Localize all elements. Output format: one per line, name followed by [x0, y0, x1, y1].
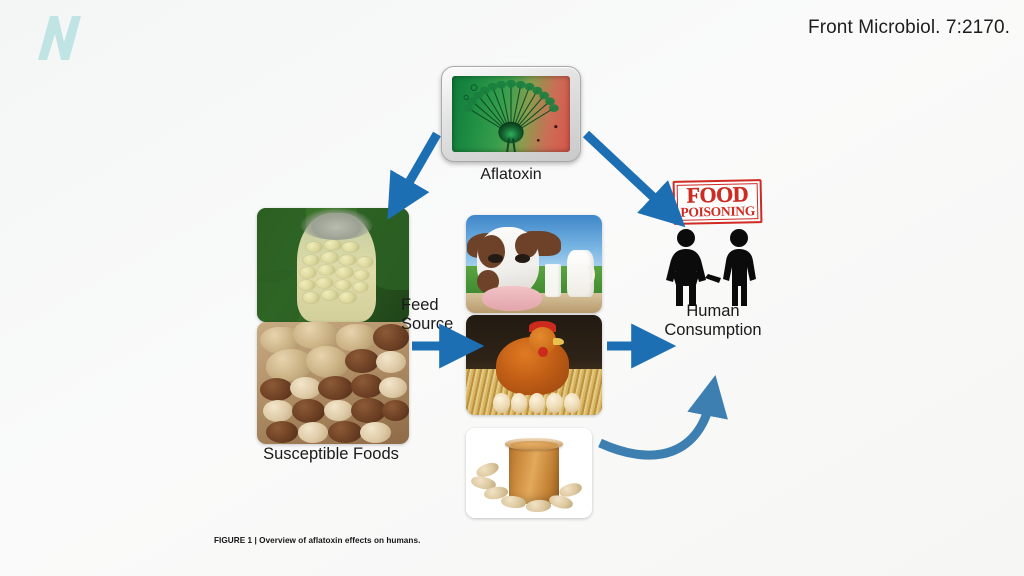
- feed-source-label: Feed Source: [401, 296, 479, 335]
- arrow-product-to-humans-curved: [600, 398, 711, 455]
- aflatoxin-label: Aflatoxin: [441, 166, 581, 184]
- human-consumption-line2: Consumption: [664, 321, 761, 339]
- slide-canvas: Front Microbiol. 7:2170.: [0, 0, 1024, 576]
- hen-with-eggs-image: [466, 315, 602, 415]
- peanut-butter-jar-image: [466, 428, 592, 518]
- aflatoxin-image-card: [441, 66, 581, 162]
- aspergillus-micrograph: [452, 76, 570, 152]
- human-consumption-label: Human Consumption: [640, 302, 786, 340]
- moldy-corn-image: [257, 208, 409, 322]
- journal-citation: Front Microbiol. 7:2170.: [808, 17, 1010, 39]
- feed-source-line2: Source: [401, 315, 453, 333]
- arrow-aflatoxin-to-humans: [586, 134, 667, 210]
- n-logo-watermark-icon: [28, 12, 88, 64]
- arrow-aflatoxin-to-foods: [400, 134, 437, 198]
- human-couple-pictogram-icon: [655, 228, 771, 306]
- human-consumption-line1: Human: [686, 302, 739, 320]
- stamp-line-food: FOOD: [686, 184, 748, 205]
- feed-source-line1: Feed: [401, 296, 439, 314]
- food-poisoning-stamp: FOOD POISONING: [673, 179, 763, 225]
- susceptible-foods-label: Susceptible Foods: [236, 445, 426, 464]
- figure-caption: FIGURE 1 | Overview of aflatoxin effects…: [214, 536, 420, 545]
- dairy-cow-with-milk-image: [466, 215, 602, 313]
- stamp-line-poisoning: POISONING: [680, 204, 755, 220]
- peanuts-and-nuts-image: [257, 322, 409, 444]
